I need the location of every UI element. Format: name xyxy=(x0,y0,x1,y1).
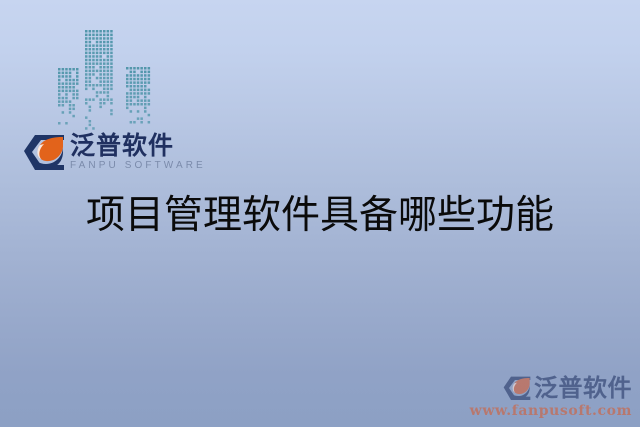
brand-logo: 泛普软件 FANPU SOFTWARE xyxy=(22,131,206,173)
brand-name-en: FANPU SOFTWARE xyxy=(70,160,206,172)
page-title: 项目管理软件具备哪些功能 xyxy=(0,192,640,240)
watermark-brand-name: 泛普软件 xyxy=(534,375,632,401)
watermark-url: www.fanpusoft.com xyxy=(470,403,632,419)
pixel-building-skyline xyxy=(52,26,162,131)
watermark: 泛普软件 www.fanpusoft.com xyxy=(470,374,632,419)
fanpu-logo-icon xyxy=(22,131,66,173)
brand-name-cn: 泛普软件 xyxy=(70,132,206,159)
watermark-logo-row: 泛普软件 xyxy=(470,374,632,402)
brand-wordmark: 泛普软件 FANPU SOFTWARE xyxy=(70,131,206,172)
fanpu-logo-icon xyxy=(502,374,532,402)
promo-banner: 泛普软件 FANPU SOFTWARE 项目管理软件具备哪些功能 泛普软件 ww… xyxy=(0,0,640,427)
